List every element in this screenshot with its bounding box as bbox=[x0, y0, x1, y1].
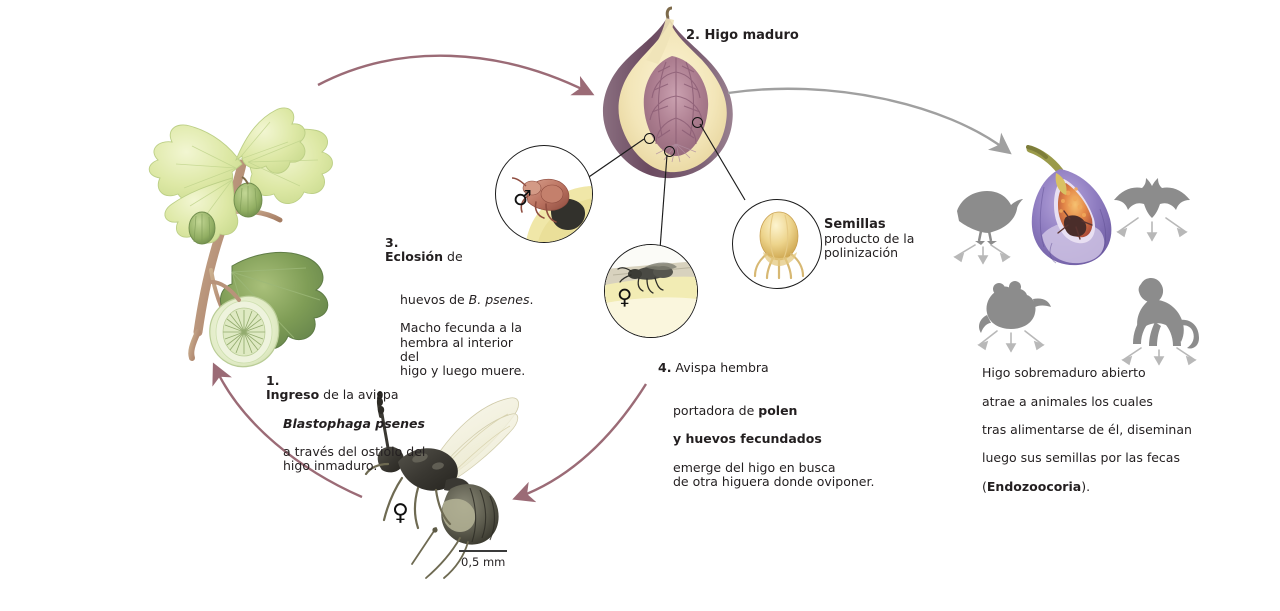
step3-after-lead: de bbox=[443, 249, 463, 264]
dispersal-callout: Higo sobremaduro abierto atrae a animale… bbox=[982, 352, 1197, 494]
dispersal-line3: tras alimentarse de él, diseminan bbox=[982, 422, 1192, 437]
fig-wasp-lifecycle-diagram: ♂ ♀ bbox=[0, 0, 1280, 611]
step4-line1: Avispa hembra bbox=[671, 360, 768, 375]
step4-line3-bold: y huevos fecundados bbox=[658, 432, 822, 446]
step4-line2-bold: polen bbox=[758, 403, 797, 418]
step1-text: 1. Ingreso de la avispa Blastophaga psen… bbox=[266, 360, 456, 474]
dispersal-endozoocoria: Endozoocoria bbox=[987, 479, 1081, 494]
arrow-fig-to-overripe bbox=[728, 89, 1006, 150]
step1-bold-lead: Ingreso bbox=[266, 387, 319, 402]
step1-number: 1. bbox=[266, 373, 279, 388]
dispersal-line5-post: ). bbox=[1081, 479, 1090, 494]
step1-rest: a través del ostiolo del higo inmaduro. bbox=[266, 445, 425, 473]
step3-text: 3. Eclosión de huevos de B. psenes. Mach… bbox=[385, 222, 535, 378]
seeds-body: producto de la polinización bbox=[824, 232, 954, 260]
step3-line2-pre: huevos de bbox=[400, 292, 469, 307]
step3-line2-post: . bbox=[529, 292, 533, 307]
step2-label: 2. Higo maduro bbox=[686, 28, 799, 43]
cycle-arrows bbox=[0, 0, 1280, 611]
step3-number: 3. bbox=[385, 235, 398, 250]
step3-species: B. psenes bbox=[469, 292, 530, 307]
dispersal-line4: luego sus semillas por las fecas bbox=[982, 450, 1180, 465]
step1-species: Blastophaga psenes bbox=[266, 417, 425, 431]
dispersal-line2: atrae a animales los cuales bbox=[982, 394, 1153, 409]
arrow-fig-to-wasp bbox=[519, 384, 646, 497]
step4-number: 4. bbox=[658, 360, 671, 375]
seeds-callout: Semillas producto de la polinización bbox=[824, 217, 954, 260]
step1-after-lead: de la avispa bbox=[319, 387, 398, 402]
seeds-title: Semillas bbox=[824, 217, 954, 232]
dispersal-line1: Higo sobremaduro abierto bbox=[982, 365, 1146, 380]
arrow-tree-to-fig bbox=[318, 56, 588, 92]
step4-rest: emerge del higo en busca de otra higuera… bbox=[658, 461, 874, 489]
step4-text: 4. Avispa hembra portadora de polen y hu… bbox=[658, 347, 888, 489]
step3-bold-lead: Eclosión bbox=[385, 249, 443, 264]
step4-line2-pre: portadora de bbox=[673, 403, 758, 418]
